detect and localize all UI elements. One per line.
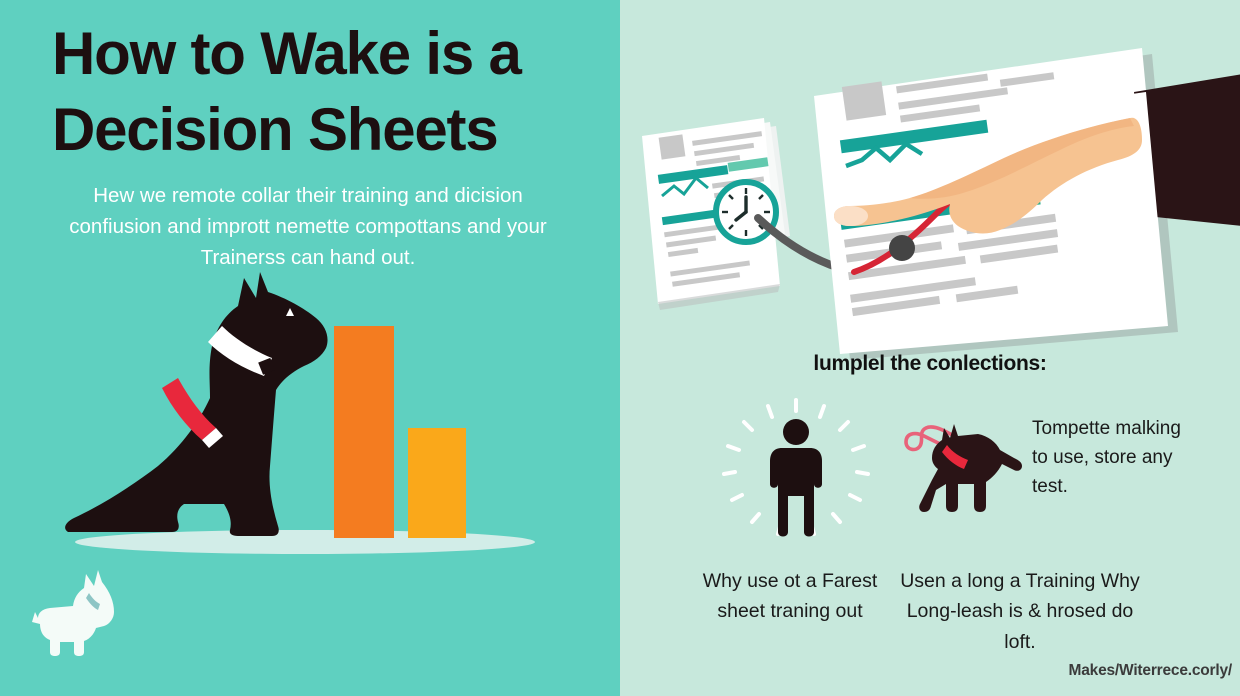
side-note-text: Tompette malking to use, store any test. xyxy=(1032,415,1182,502)
leash-knot xyxy=(889,235,915,261)
sitting-dog-silhouette xyxy=(65,272,327,536)
section-heading: lumplel the conlections: xyxy=(620,352,1240,376)
dog-and-bar-chart-illustration xyxy=(60,270,560,560)
page-subtitle: Hew we remote collar their training and … xyxy=(48,180,568,273)
documents-and-hand-illustration xyxy=(618,40,1240,360)
footer-credit: Makes/Witerrece.corly/ xyxy=(1069,662,1232,680)
bottom-text-left: Why use ot a Farest sheet traning out xyxy=(690,566,890,627)
dog-on-leash-icon xyxy=(902,414,1032,519)
bottom-text-right: Usen a long a Training Why Long-leash is… xyxy=(895,566,1145,657)
leash-dog-silhouette xyxy=(919,424,1022,512)
bar-amber xyxy=(408,428,466,538)
walking-dog-icon xyxy=(30,568,140,658)
infographic-poster: How to Wake is a Decision Sheets Hew we … xyxy=(0,0,1240,696)
clock-icon xyxy=(716,182,776,242)
page-title: How to Wake is a Decision Sheets xyxy=(52,16,597,168)
left-panel: How to Wake is a Decision Sheets Hew we … xyxy=(0,0,620,696)
bar-orange xyxy=(334,326,394,538)
person-pictogram xyxy=(706,396,886,546)
person-glyph xyxy=(770,419,822,537)
